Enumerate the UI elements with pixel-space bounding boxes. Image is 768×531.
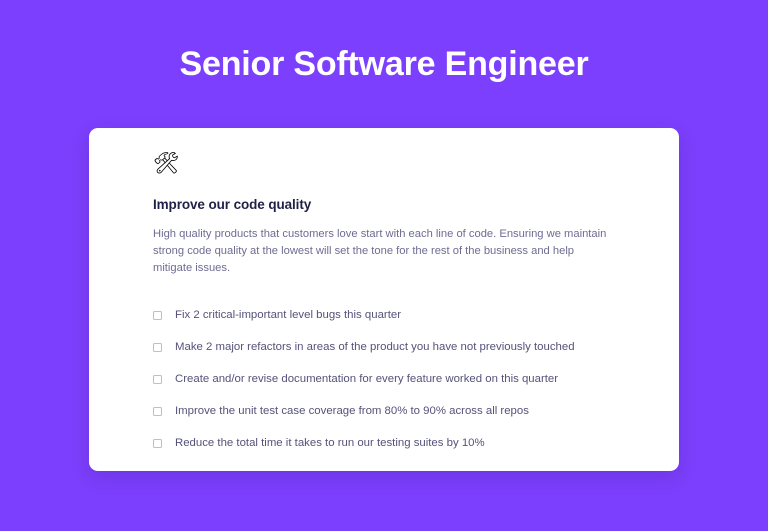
goal-card: 🛠 Improve our code quality High quality … xyxy=(89,128,679,471)
checkbox-unchecked-icon[interactable] xyxy=(153,375,162,384)
checklist: Fix 2 critical-important level bugs this… xyxy=(153,299,651,459)
list-item[interactable]: Create and/or revise documentation for e… xyxy=(153,363,651,395)
list-item-label: Create and/or revise documentation for e… xyxy=(175,371,558,387)
page-root: Senior Software Engineer 🛠 Improve our c… xyxy=(0,0,768,531)
list-item[interactable]: Make 2 major refactors in areas of the p… xyxy=(153,331,651,363)
list-item-label: Reduce the total time it takes to run ou… xyxy=(175,435,485,451)
list-item[interactable]: Improve the unit test case coverage from… xyxy=(153,395,651,427)
list-item-label: Make 2 major refactors in areas of the p… xyxy=(175,339,575,355)
list-item-label: Fix 2 critical-important level bugs this… xyxy=(175,307,401,323)
checkbox-unchecked-icon[interactable] xyxy=(153,343,162,352)
list-item[interactable]: Reduce the total time it takes to run ou… xyxy=(153,427,651,459)
page-title: Senior Software Engineer xyxy=(0,44,768,84)
list-item-label: Improve the unit test case coverage from… xyxy=(175,403,529,419)
hammer-and-wrench-icon: 🛠 xyxy=(153,152,651,178)
card-heading: Improve our code quality xyxy=(153,196,651,214)
checkbox-unchecked-icon[interactable] xyxy=(153,407,162,416)
list-item[interactable]: Fix 2 critical-important level bugs this… xyxy=(153,299,651,331)
checkbox-unchecked-icon[interactable] xyxy=(153,439,162,448)
card-description: High quality products that customers lov… xyxy=(153,226,615,277)
checkbox-unchecked-icon[interactable] xyxy=(153,311,162,320)
